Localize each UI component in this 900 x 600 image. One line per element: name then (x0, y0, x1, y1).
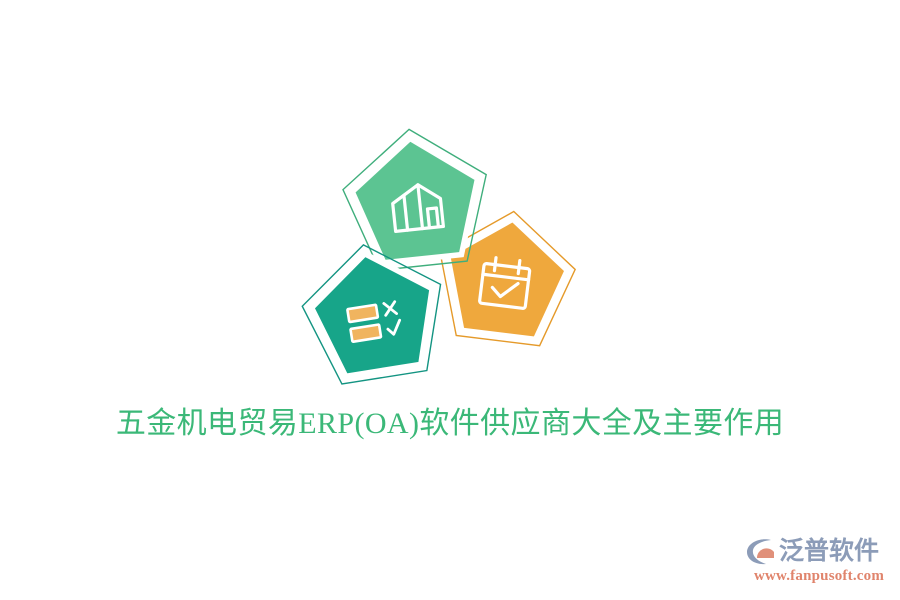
watermark-url-text: www.fanpusoft.com (746, 567, 892, 585)
watermark: 泛普软件 www.fanpusoft.com (746, 534, 892, 590)
watermark-brand-row: 泛普软件 (746, 534, 892, 568)
page-title: 五金机电贸易ERP(OA)软件供应商大全及主要作用 (0, 403, 900, 445)
watermark-brand-text: 泛普软件 (779, 536, 879, 566)
hero-illustration (0, 0, 900, 400)
fanpu-crescent-logo-icon (746, 536, 776, 566)
